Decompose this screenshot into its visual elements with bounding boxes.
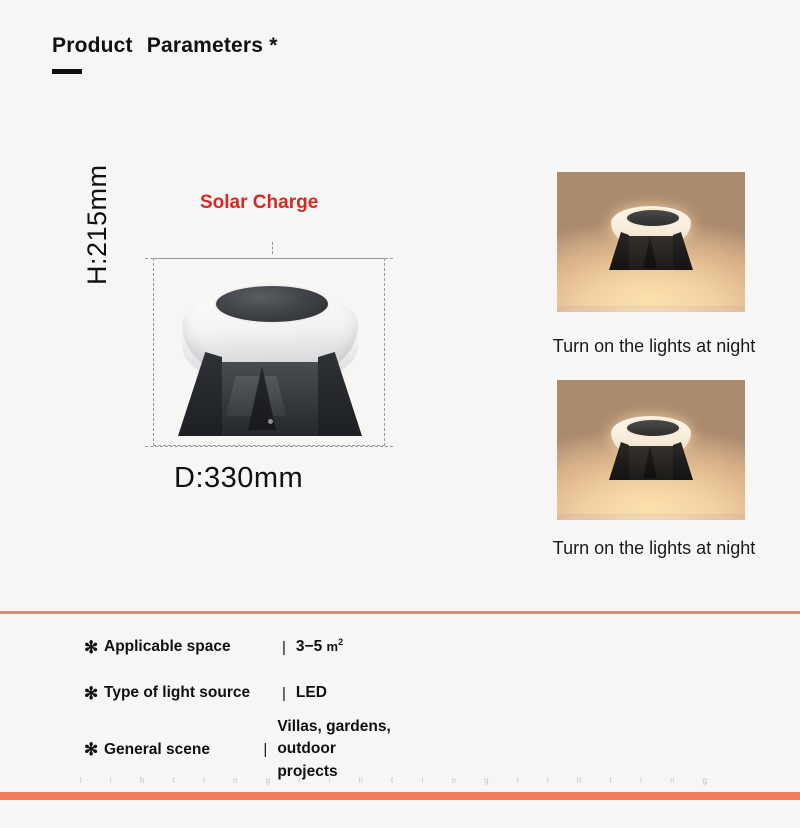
solar-panel-top (214, 284, 330, 324)
page-title: ProductParameters * (52, 34, 278, 58)
page-title-word-product: Product (52, 34, 133, 57)
spec-row-general-scene: ✻ General scene | Villas, gardens, outdo… (84, 716, 400, 783)
dimension-guide-line-bottom (145, 446, 393, 447)
dimension-height-label: H:215mm (82, 164, 113, 285)
page-header: ProductParameters * (52, 34, 278, 74)
asterisk-icon: ✻ (84, 639, 104, 656)
asterisk-icon: ✻ (84, 741, 104, 758)
footer-watermark: l i h t i n g l i h t i n g l i h t i n … (0, 776, 800, 785)
spec-value-applicable-space: 3−5 m2 (296, 637, 343, 656)
product-photo-night-1 (557, 172, 745, 312)
spec-value-light-source-type: LED (296, 684, 327, 702)
product-illustration (164, 278, 376, 436)
spec-value-general-scene: Villas, gardens, outdoor projects (277, 716, 400, 783)
spec-label-light-source-type: Type of light source (104, 684, 272, 702)
photo-lamp-figure-2 (603, 416, 699, 480)
solar-charge-badge: Solar Charge (200, 192, 318, 214)
dimension-diameter-label: D:330mm (174, 462, 303, 495)
photo-caption-2: Turn on the lights at night (534, 538, 774, 559)
footer-accent-bar (0, 792, 800, 800)
photo-lamp-figure-1 (603, 206, 699, 270)
photo-caption-1: Turn on the lights at night (534, 336, 774, 357)
spec-label-general-scene: General scene (104, 741, 253, 759)
asterisk-icon: ✻ (84, 685, 104, 702)
page-title-word-parameters: Parameters * (147, 34, 278, 57)
spec-separator: | (272, 685, 296, 702)
spec-label-applicable-space: Applicable space (104, 638, 272, 656)
title-underline-accent (52, 69, 82, 74)
spec-unit-superscript: 2 (338, 637, 343, 647)
section-divider (0, 611, 800, 614)
spec-value-number: 3−5 (296, 639, 327, 656)
product-dimension-diagram: Solar Charge H:215mm D:330mm (90, 180, 410, 520)
spec-separator: | (272, 639, 296, 656)
photo-solar-panel-2 (625, 418, 681, 438)
spec-unit-m: m (327, 640, 339, 655)
photo-solar-panel-1 (625, 208, 681, 228)
dimension-tick-top (272, 242, 273, 254)
spec-row-applicable-space: ✻ Applicable space | 3−5 m2 (84, 624, 400, 670)
product-photo-night-2 (557, 380, 745, 520)
spec-separator: | (253, 741, 277, 758)
lamp-base-screw (268, 419, 273, 424)
spec-row-light-source-type: ✻ Type of light source | LED (84, 670, 400, 716)
